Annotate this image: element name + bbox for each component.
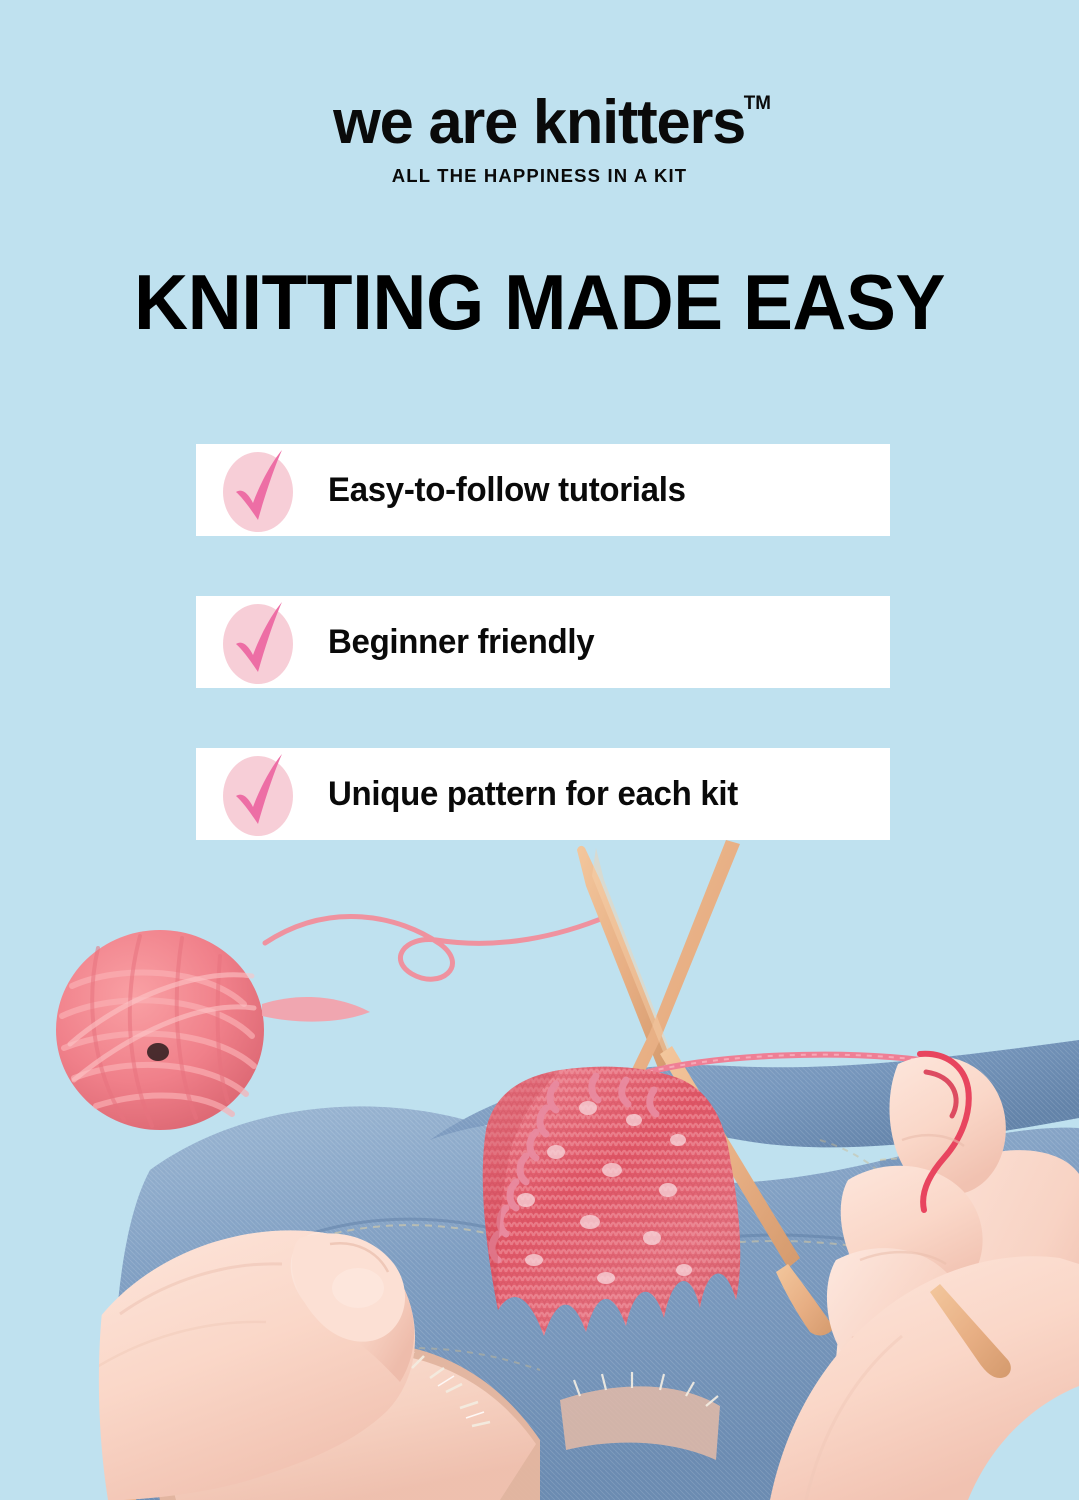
brand-tagline: ALL THE HAPPINESS IN A KIT xyxy=(0,165,1079,187)
check-icon xyxy=(222,596,300,688)
feature-card: Beginner friendly xyxy=(196,596,890,688)
check-icon xyxy=(222,748,300,840)
knitted-swatch xyxy=(483,1067,740,1336)
brand-header: we are knitters TM ALL THE HAPPINESS IN … xyxy=(0,92,1079,187)
poster: we are knitters TM ALL THE HAPPINESS IN … xyxy=(0,0,1079,1500)
feature-label: Unique pattern for each kit xyxy=(328,775,738,814)
brand-name: we are knitters TM xyxy=(333,92,745,154)
feature-card: Easy-to-follow tutorials xyxy=(196,444,890,536)
page-title: KNITTING MADE EASY xyxy=(22,262,1058,342)
feature-card: Unique pattern for each kit xyxy=(196,748,890,840)
brand-name-text: we are knitters xyxy=(333,88,745,157)
feature-list: Easy-to-follow tutorials Beginner friend… xyxy=(196,444,890,840)
trademark-icon: TM xyxy=(744,94,771,113)
check-icon xyxy=(222,444,300,536)
hands-knitting-photo xyxy=(0,840,1079,1500)
feature-label: Beginner friendly xyxy=(328,623,594,662)
feature-label: Easy-to-follow tutorials xyxy=(328,471,686,510)
